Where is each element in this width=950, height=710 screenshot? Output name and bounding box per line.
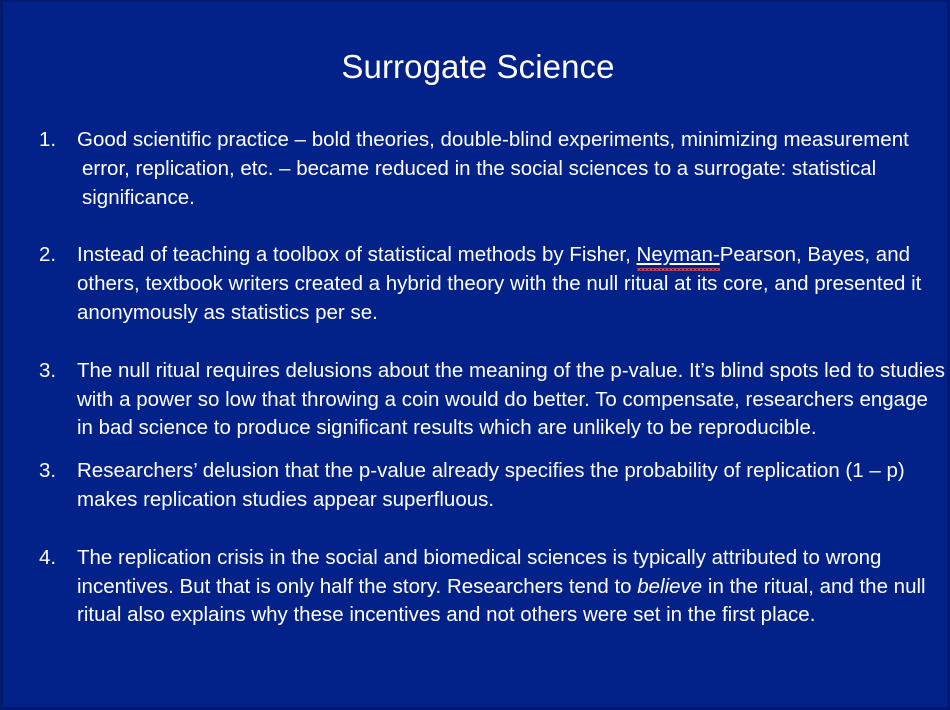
slide-title: Surrogate Science <box>3 48 950 86</box>
list-item-text: The null ritual requires delusions about… <box>77 357 945 443</box>
list-item-text-run: Instead of teaching a toolbox of statist… <box>77 243 637 266</box>
list-item-number: 4. <box>39 544 77 573</box>
emphasized-word: believe <box>637 575 702 598</box>
list-item-text-run: Good scientific practice – bold theories… <box>77 128 909 209</box>
list-item-text-run: Researchers’ delusion that the p-value a… <box>77 459 905 511</box>
list-item-text: The replication crisis in the social and… <box>77 544 945 630</box>
list-item: 3. Researchers’ delusion that the p-valu… <box>39 457 945 515</box>
list-item-text-run: The null ritual requires delusions about… <box>77 359 945 440</box>
list-item: 1. Good scientific practice – bold theor… <box>39 126 945 212</box>
slide-body: 1. Good scientific practice – bold theor… <box>39 126 945 630</box>
list-item-number: 2. <box>39 241 77 270</box>
item-spacer <box>39 328 945 357</box>
item-spacer <box>39 212 945 241</box>
list-item-text: Instead of teaching a toolbox of statist… <box>77 241 945 327</box>
item-spacer <box>39 443 945 457</box>
list-item: 3. The null ritual requires delusions ab… <box>39 357 945 443</box>
list-item: 2. Instead of teaching a toolbox of stat… <box>39 241 945 327</box>
list-item-text: Researchers’ delusion that the p-value a… <box>77 457 945 515</box>
slide-canvas: Surrogate Science 1. Good scientific pra… <box>0 0 950 710</box>
list-item: 4. The replication crisis in the social … <box>39 544 945 630</box>
list-item-text: Good scientific practice – bold theories… <box>77 126 945 212</box>
list-item-number: 3. <box>39 357 77 386</box>
list-item-number: 3. <box>39 457 77 486</box>
misspelled-word: Neyman- <box>637 243 720 266</box>
list-item-number: 1. <box>39 126 77 155</box>
item-spacer <box>39 515 945 544</box>
